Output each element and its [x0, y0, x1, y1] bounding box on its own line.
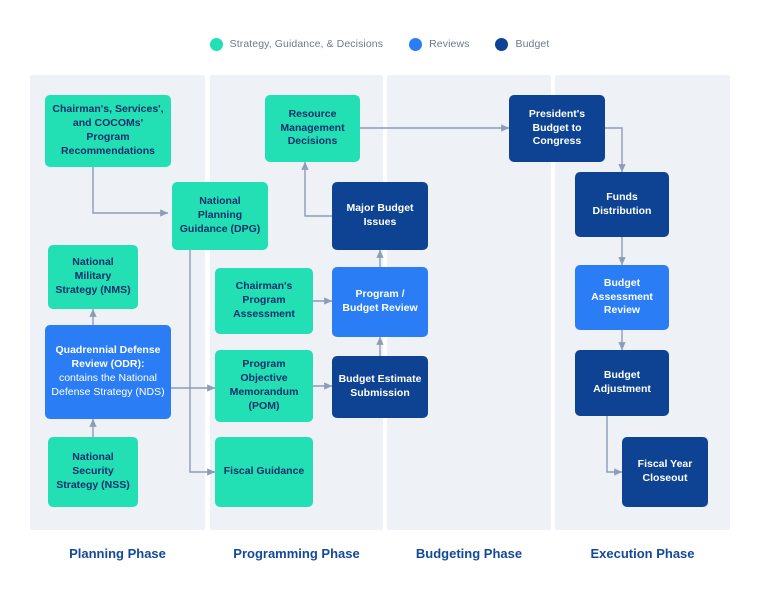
- circle-icon: [495, 38, 508, 51]
- node-budget-estimate-submission[interactable]: Budget Estimate Submission: [332, 356, 428, 418]
- node-program-objective-memorandum[interactable]: Program Objective Memorandum (POM): [215, 350, 313, 422]
- node-label: National Planning Guidance (DPG): [178, 195, 262, 237]
- circle-icon: [409, 38, 422, 51]
- legend-item-reviews: Reviews: [409, 38, 469, 51]
- node-quadrennial-defense-review[interactable]: Quadrennial Defense Review (ODR): contai…: [45, 325, 171, 419]
- node-program-budget-review[interactable]: Program / Budget Review: [332, 267, 428, 337]
- node-resource-management-decisions[interactable]: Resource Management Decisions: [265, 95, 360, 162]
- legend-item-strategy: Strategy, Guidance, & Decisions: [210, 38, 383, 51]
- node-national-planning-guidance[interactable]: National Planning Guidance (DPG): [172, 182, 268, 250]
- node-fiscal-guidance[interactable]: Fiscal Guidance: [215, 437, 313, 507]
- legend-label-strategy: Strategy, Guidance, & Decisions: [230, 38, 383, 50]
- flowchart-canvas: Strategy, Guidance, & Decisions Reviews …: [0, 0, 759, 593]
- node-label: Program / Budget Review: [338, 288, 422, 316]
- phase-label-budgeting: Budgeting Phase: [387, 545, 551, 563]
- node-label: Chairman's, Services', and COCOMs' Progr…: [51, 103, 165, 159]
- node-chairman-program-assessment[interactable]: Chairman's Program Assessment: [215, 268, 313, 334]
- legend-item-budget: Budget: [495, 38, 549, 51]
- node-national-security-strategy[interactable]: National Security Strategy (NSS): [48, 437, 138, 507]
- circle-icon: [210, 38, 223, 51]
- node-label: Quadrennial Defense Review (ODR):: [55, 344, 160, 370]
- phase-label-planning: Planning Phase: [30, 545, 205, 563]
- node-budget-adjustment[interactable]: Budget Adjustment: [575, 350, 669, 416]
- node-label: National Military Strategy (NMS): [54, 256, 132, 298]
- node-label: Chairman's Program Assessment: [221, 280, 307, 322]
- node-budget-assessment-review[interactable]: Budget Assessment Review: [575, 265, 669, 330]
- node-label: President's Budget to Congress: [515, 108, 599, 150]
- node-label: Budget Estimate Submission: [338, 373, 422, 401]
- node-funds-distribution[interactable]: Funds Distribution: [575, 172, 669, 237]
- node-label-group: Quadrennial Defense Review (ODR): contai…: [51, 344, 165, 400]
- node-label: Budget Assessment Review: [581, 277, 663, 319]
- node-major-budget-issues[interactable]: Major Budget Issues: [332, 182, 428, 250]
- legend: Strategy, Guidance, & Decisions Reviews …: [0, 33, 759, 55]
- node-presidents-budget-to-congress[interactable]: President's Budget to Congress: [509, 95, 605, 162]
- node-fiscal-year-closeout[interactable]: Fiscal Year Closeout: [622, 437, 708, 507]
- node-label: Fiscal Guidance: [224, 465, 305, 479]
- node-national-military-strategy[interactable]: National Military Strategy (NMS): [48, 245, 138, 309]
- phase-label-programming: Programming Phase: [210, 545, 383, 563]
- node-label: Budget Adjustment: [581, 369, 663, 397]
- node-label: Major Budget Issues: [338, 202, 422, 230]
- legend-label-budget: Budget: [515, 38, 549, 50]
- node-label: Resource Management Decisions: [271, 108, 354, 150]
- node-label-sub: contains the National Defense Strategy (…: [51, 372, 164, 398]
- legend-label-reviews: Reviews: [429, 38, 469, 50]
- node-label: National Security Strategy (NSS): [54, 451, 132, 493]
- node-label: Funds Distribution: [581, 191, 663, 219]
- node-label: Program Objective Memorandum (POM): [221, 358, 307, 414]
- phase-label-execution: Execution Phase: [555, 545, 730, 563]
- node-label: Fiscal Year Closeout: [628, 458, 702, 486]
- node-chairman-recommendations[interactable]: Chairman's, Services', and COCOMs' Progr…: [45, 95, 171, 167]
